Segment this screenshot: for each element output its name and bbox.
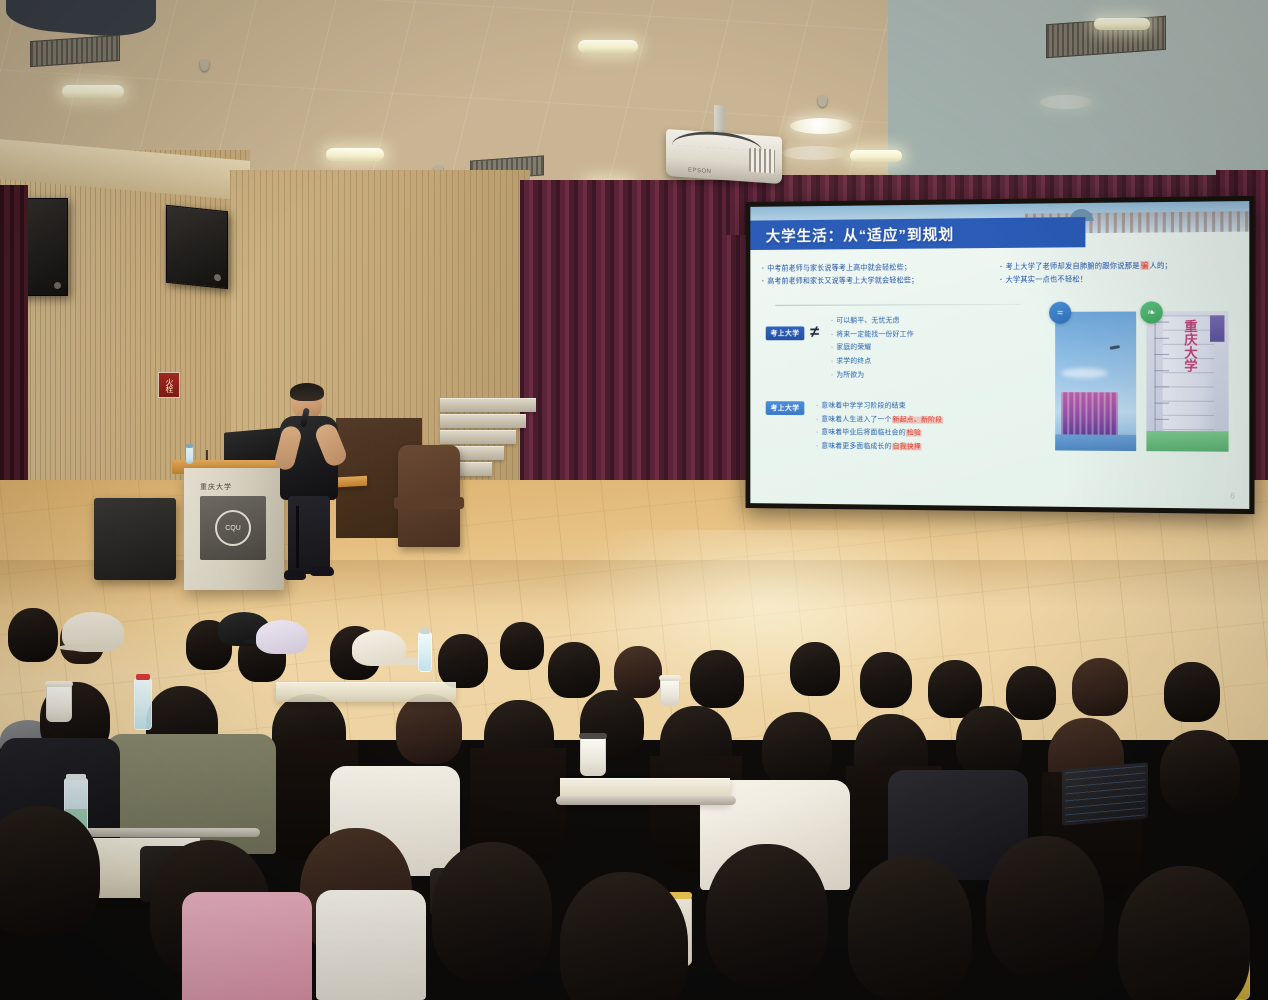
audience-head: [1118, 866, 1250, 1000]
bullet-text: 考上大学了老师却发自肺腑的跟你说那是骗人的；: [1006, 261, 1173, 271]
audience-desk: [276, 682, 456, 702]
water-bottle: [418, 632, 432, 672]
stage-chair: [398, 445, 460, 547]
campus-photo-sky: [1055, 312, 1136, 452]
list-item: 为所欲为: [831, 368, 914, 382]
slide-photos: ≈ ❧ 重庆大学: [1055, 303, 1241, 456]
podium-water-bottle: [186, 447, 193, 464]
campus-photo-tower: 重庆大学: [1146, 311, 1228, 452]
scaffold-graphic: [1155, 322, 1169, 433]
audience-head: [548, 642, 600, 698]
university-crest-icon: CQU: [215, 510, 251, 546]
cloud-graphic: [1061, 368, 1108, 378]
audience-head: [986, 836, 1104, 976]
paper-cup: [660, 678, 680, 706]
speaker-driver-dot: [54, 282, 61, 289]
podium-institution-text: 重庆大学: [200, 482, 232, 492]
leaf-icon: ❧: [1140, 301, 1162, 323]
slide-divider: [775, 304, 1021, 306]
slide-content: 中考前老师与家长说等考上高中就会轻松些； 高考前老师和家长又说等考上大学就会轻松…: [750, 250, 1249, 509]
slide-title-bar: 大学生活：从“适应”到规划: [750, 217, 1085, 250]
projector-mount: [714, 105, 725, 135]
bullets-left-column: 中考前老师与家长说等考上高中就会轻松些； 高考前老师和家长又说等考上大学就会轻松…: [762, 260, 992, 288]
audience-head: [848, 856, 972, 1000]
bottle-cap: [136, 674, 150, 680]
audience-head: [438, 634, 488, 688]
list-item: 意味着人生进入了一个新起点、新阶段: [816, 413, 943, 427]
audience-head: [956, 706, 1022, 776]
coffee-cup: [580, 736, 606, 776]
audience-head: [8, 608, 58, 662]
audience-head: [396, 694, 462, 764]
list-item: 求学的终点: [831, 355, 914, 369]
not-equal-row: 考上大学 ≠ 可以躺平、无忧无虑 将来一定能找一份好工作 家庭的荣耀 求学的终点…: [766, 314, 1041, 382]
slide-number: 6: [1230, 491, 1235, 500]
means-row: 考上大学 意味着中学学习阶段的结束 意味着人生进入了一个新起点、新阶段 意味着毕…: [766, 399, 1041, 455]
audience-body: [316, 890, 426, 1000]
stage-step: [440, 414, 526, 428]
bucket-hat: [256, 620, 308, 654]
lectern-podium: 重庆大学 CQU: [184, 468, 284, 590]
bullet-item: 高考前老师和家长又说等考上大学就会轻松些；: [762, 273, 992, 288]
list-item: 意味着更多面临成长的自我抉择: [816, 440, 943, 454]
projection-screen: 大学生活：从“适应”到规划 中考前老师与家长说等考上高中就会轻松些； 高考前老师…: [746, 196, 1255, 514]
list-item: 家庭的荣耀: [831, 341, 914, 355]
chair-seat: [394, 497, 464, 509]
projector-vent: [749, 148, 775, 174]
building-graphic: [1061, 392, 1118, 437]
highlighted-phrase: 检验: [906, 430, 922, 437]
projector-brand-label: EPSON: [688, 167, 712, 175]
highlighted-phrase: 自我抉择: [892, 443, 922, 450]
audience-head: [560, 872, 688, 1000]
cap-brim: [58, 644, 116, 651]
cup-lid: [659, 675, 681, 681]
stage-step: [440, 430, 516, 444]
ceiling-downlight: [1040, 95, 1092, 109]
audience-head: [1006, 666, 1056, 720]
fire-hydrant-sign: 火栓: [158, 372, 180, 398]
slide-title: 大学生活：从“适应”到规划: [766, 223, 955, 246]
stage-step: [440, 398, 536, 412]
university-name-vertical: 重庆大学: [1171, 319, 1198, 372]
airplane-icon: [1110, 345, 1121, 350]
laptop-screen: [1065, 766, 1145, 823]
ground-graphic: [1055, 434, 1136, 451]
audience-head: [0, 806, 100, 936]
audience-seating: [0, 590, 1268, 1000]
bottle-cap: [420, 628, 430, 634]
cup-lid: [579, 733, 607, 739]
audience-head: [1164, 662, 1220, 722]
wall-loudspeaker: [166, 205, 228, 290]
grass-graphic: [1146, 431, 1228, 452]
audience-body: [182, 892, 312, 1000]
leg-gap: [296, 506, 299, 568]
slide-top-bullets: 中考前老师与家长说等考上高中就会轻松些； 高考前老师和家长又说等考上大学就会轻松…: [750, 250, 1249, 288]
presenter-shoe: [284, 570, 306, 580]
bottle-cap: [66, 774, 86, 780]
list-item: 意味着毕业后将面临社会的检验: [816, 426, 943, 440]
desk-rail: [556, 796, 736, 805]
audience-head: [860, 652, 912, 708]
audience-head: [1072, 658, 1128, 716]
audience-head: [790, 642, 840, 696]
speaker-driver-dot: [214, 274, 221, 282]
audience-head: [432, 842, 552, 982]
paper-cup: [46, 684, 72, 722]
presenter: [276, 386, 346, 582]
lecture-hall-photo: EPSON 火栓 重庆大学 CQU: [0, 0, 1268, 1000]
not-equal-list: 可以躺平、无忧无虑 将来一定能找一份好工作 家庭的荣耀 求学的终点 为所欲为: [831, 314, 914, 382]
ceiling-light: [326, 148, 384, 161]
water-drop-icon: ≈: [1049, 302, 1071, 324]
list-item: 将来一定能找一份好工作: [831, 328, 914, 342]
laptop[interactable]: [1062, 762, 1148, 826]
list-text: 意味着更多面临成长的: [821, 443, 891, 450]
sprinkler-icon: [200, 60, 209, 71]
podium-front-panel: CQU: [200, 496, 266, 560]
water-bottle: [134, 678, 152, 730]
presenter-hair: [290, 383, 324, 401]
highlighted-phrase: 新起点、新阶段: [892, 416, 944, 423]
ceiling-downlight: [782, 146, 848, 160]
badge-enter-university-2: 考上大学: [766, 401, 805, 415]
ceiling-light: [850, 150, 902, 162]
list-text: 意味着毕业后将面临社会的: [821, 429, 905, 436]
cup-lid: [45, 681, 73, 687]
audience-head: [690, 650, 744, 708]
audience-head: [1160, 730, 1240, 814]
floor-amplifier-box: [94, 498, 176, 580]
list-text: 意味着人生进入了一个: [821, 416, 891, 423]
banner-graphic: [1210, 315, 1224, 341]
comparison-group: 考上大学 ≠ 可以躺平、无忧无虑 将来一定能找一份好工作 家庭的荣耀 求学的终点…: [766, 314, 1041, 473]
bullets-right-column: 考上大学了老师却发自肺腑的跟你说那是骗人的； 大学其实一点也不轻松！: [1000, 258, 1239, 286]
presenter-shoe: [310, 566, 334, 576]
bullet-item: 大学其实一点也不轻松！: [1000, 272, 1239, 287]
audience-head: [762, 712, 832, 786]
sprinkler-icon: [818, 96, 827, 107]
highlighted-word: 骗: [1140, 261, 1150, 270]
presentation-slide: 大学生活：从“适应”到规划 中考前老师与家长说等考上高中就会轻松些； 高考前老师…: [750, 201, 1249, 509]
badge-enter-university: 考上大学: [766, 326, 805, 340]
list-item: 可以躺平、无忧无虑: [831, 314, 914, 328]
ceiling-light: [1094, 18, 1150, 30]
not-equal-icon: ≠: [810, 322, 819, 342]
presenter-legs: [288, 496, 330, 574]
bottle-cap: [186, 444, 193, 448]
ceiling-light: [578, 40, 638, 53]
ceiling-downlight: [790, 118, 852, 134]
audience-head: [500, 622, 544, 670]
audience-head: [706, 844, 828, 986]
ceiling-light: [62, 85, 124, 98]
list-item: 意味着中学学习阶段的结束: [816, 400, 943, 414]
means-list: 意味着中学学习阶段的结束 意味着人生进入了一个新起点、新阶段 意味着毕业后将面临…: [816, 400, 943, 455]
